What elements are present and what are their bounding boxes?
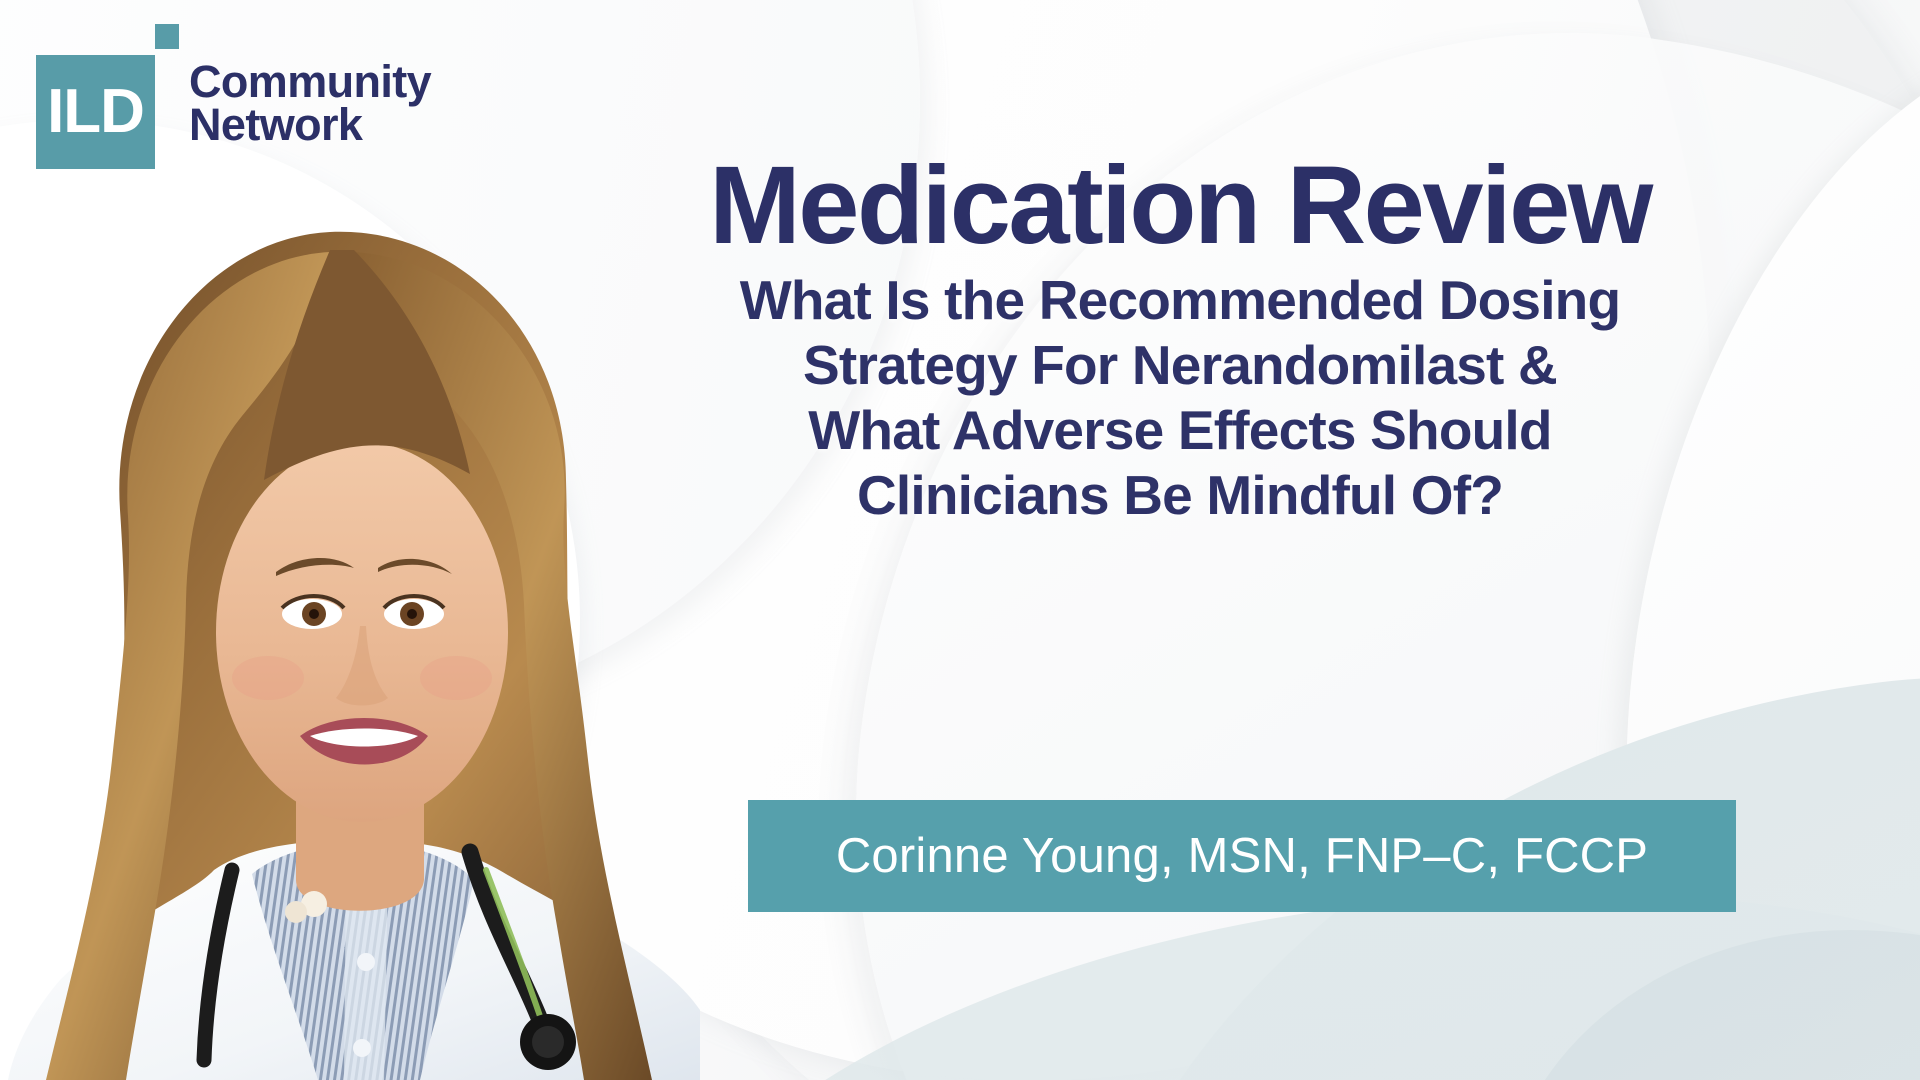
logo-teal-square: ILD <box>36 55 155 169</box>
logo-wordmark: Community Network <box>189 60 431 146</box>
shirt-button <box>357 953 375 971</box>
subtitle-line-3: What Adverse Effects Should <box>470 398 1890 463</box>
cheek-left <box>232 656 304 700</box>
logo-accent-square-icon <box>155 24 179 49</box>
presenter-name-banner: Corinne Young, MSN, FNP–C, FCCP <box>748 800 1736 912</box>
page-title: Medication Review <box>470 150 1890 262</box>
page-subtitle: What Is the Recommended Dosing Strategy … <box>470 268 1890 528</box>
ild-community-network-logo: ILD Community Network <box>36 24 431 169</box>
logo-ild-text: ILD <box>47 81 144 143</box>
eye-right <box>384 596 444 629</box>
title-block: Medication Review What Is the Recommende… <box>470 150 1890 528</box>
presenter-name-text: Corinne Young, MSN, FNP–C, FCCP <box>836 828 1648 884</box>
shirt-button <box>353 1039 371 1057</box>
logo-mark: ILD <box>36 24 176 169</box>
subtitle-line-1: What Is the Recommended Dosing <box>470 268 1890 333</box>
logo-wordmark-line-2: Network <box>189 103 431 146</box>
subtitle-line-2: Strategy For Nerandomilast & <box>470 333 1890 398</box>
cheek-right <box>420 656 492 700</box>
logo-wordmark-line-1: Community <box>189 60 431 103</box>
subtitle-line-4: Clinicians Be Mindful Of? <box>470 463 1890 528</box>
slide-canvas: ILD Community Network <box>0 0 1920 1080</box>
